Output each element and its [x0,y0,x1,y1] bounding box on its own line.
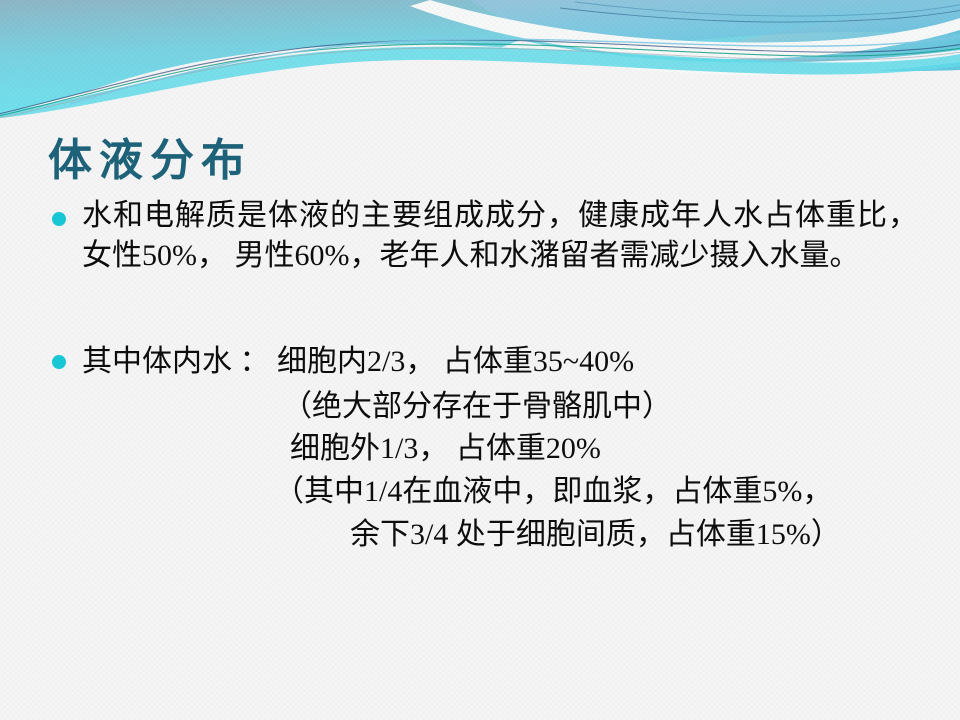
round-bullet-icon [52,355,66,369]
bullet-row-1: 水和电解质是体液的主要组成成分，健康成年人水占体重比，女性50%， 男性60%，… [82,196,918,275]
subline-4: 余下3/4 处于细胞间质，占体重15%） [82,514,918,557]
presentation-slide: 体液分布 水和电解质是体液的主要组成成分，健康成年人水占体重比，女性50%， 男… [0,0,960,720]
bullet-row-2: 其中体内水 ： 细胞内2/3， 占体重35~40% [82,341,918,384]
slide-body: 水和电解质是体液的主要组成成分，健康成年人水占体重比，女性50%， 男性60%，… [0,196,960,556]
subline-2: 细胞外1/3， 占体重20% [82,428,918,471]
bullet-text-2: 其中体内水 ： 细胞内2/3， 占体重35~40% [82,341,918,384]
round-bullet-icon [52,212,66,226]
bullet-item-2: 其中体内水 ： 细胞内2/3， 占体重35~40% （绝大部分存在于骨骼肌中） … [0,341,960,556]
bullet-text-1: 水和电解质是体液的主要组成成分，健康成年人水占体重比，女性50%， 男性60%，… [82,196,918,275]
bullet-item-1: 水和电解质是体液的主要组成成分，健康成年人水占体重比，女性50%， 男性60%，… [0,196,960,275]
decorative-wave-banner [0,0,960,118]
subline-1: （绝大部分存在于骨骼肌中） [82,386,918,429]
slide-title: 体液分布 [48,124,252,188]
bullet-2-sublines: （绝大部分存在于骨骼肌中） 细胞外1/3， 占体重20% （其中1/4在血液中，… [82,386,918,556]
subline-3: （其中1/4在血液中，即血浆，占体重5%， [82,471,918,514]
